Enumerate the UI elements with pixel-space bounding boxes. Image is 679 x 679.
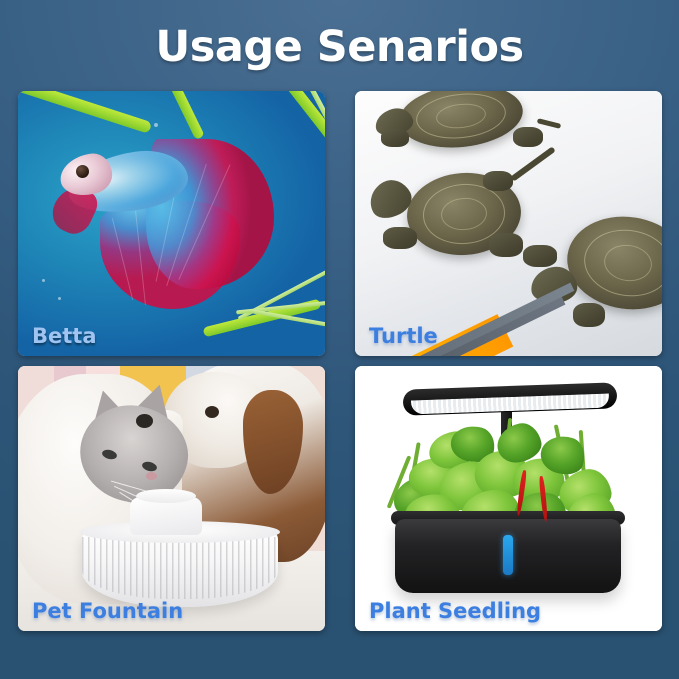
- water-bubble: [58, 297, 61, 300]
- plant-seedling-scene: Plant Seedling: [355, 366, 662, 631]
- betta-eye: [76, 165, 89, 178]
- turtle-leg: [483, 171, 513, 191]
- turtle-leg: [573, 303, 605, 327]
- turtle-leg: [383, 227, 417, 249]
- fountain-ribs: [82, 537, 278, 599]
- panel-betta[interactable]: Betta: [18, 91, 325, 356]
- turtle-scene: Turtle: [355, 91, 662, 356]
- page-title: Usage Senarios: [0, 22, 679, 72]
- hydroponic-planter-base: [395, 519, 621, 593]
- turtle-shell: [561, 209, 662, 317]
- panel-plant-seedling[interactable]: Plant Seedling: [355, 366, 662, 631]
- water-bubble: [154, 123, 158, 127]
- turtle-leg: [513, 127, 543, 147]
- panel-caption-pet-fountain: Pet Fountain: [32, 599, 183, 623]
- fountain-cap: [136, 489, 196, 503]
- water-bubble: [42, 279, 45, 282]
- pet-fountain-scene: Pet Fountain: [18, 366, 325, 631]
- usage-scenarios-page: Usage Senarios B: [0, 0, 679, 679]
- turtle-leg: [523, 245, 557, 267]
- dog-nose: [136, 414, 153, 428]
- turtle-top: [365, 91, 545, 165]
- panel-caption-betta: Betta: [32, 324, 97, 348]
- betta-scene: Betta: [18, 91, 325, 356]
- turtle-leg: [381, 129, 409, 147]
- dog-eye: [205, 406, 219, 418]
- panel-turtle[interactable]: Turtle: [355, 91, 662, 356]
- panel-pet-fountain[interactable]: Pet Fountain: [18, 366, 325, 631]
- turtle-shell: [396, 91, 526, 153]
- panel-caption-turtle: Turtle: [369, 324, 438, 348]
- water-level-indicator: [503, 535, 513, 575]
- turtle-bottom-right: [513, 217, 662, 356]
- cat-nose: [146, 472, 157, 480]
- panel-caption-plant-seedling: Plant Seedling: [369, 599, 541, 623]
